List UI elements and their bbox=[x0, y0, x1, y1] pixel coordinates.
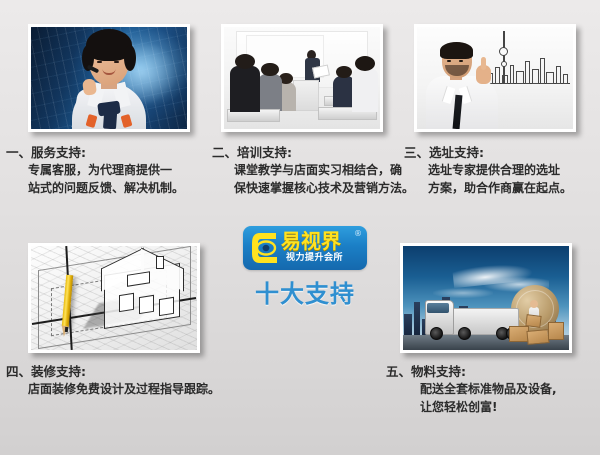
poster-canvas: 易视界 视力提升会所 ® 十大支持 一、服务支持: 专属客服，为代理商提供一 站… bbox=[0, 0, 600, 455]
house-window bbox=[159, 297, 174, 316]
agent-hand bbox=[82, 78, 97, 96]
feature-line: 让您轻松创富! bbox=[420, 398, 557, 416]
student-figure bbox=[258, 74, 281, 111]
brand-logo: 易视界 视力提升会所 ® 十大支持 bbox=[243, 226, 367, 312]
feature-title-3: 三、选址支持: bbox=[404, 144, 572, 161]
city-skyline-sketch bbox=[486, 49, 570, 84]
registered-trademark-icon: ® bbox=[354, 229, 362, 238]
feature-title-2: 二、培训支持: bbox=[212, 144, 414, 161]
agent-hair-side-right bbox=[124, 45, 136, 71]
feature-title-text-5: 物料支持: bbox=[411, 364, 466, 379]
feature-title-text-3: 选址支持: bbox=[429, 145, 484, 160]
feature-number-1: 一、 bbox=[6, 145, 31, 160]
feature-body-2: 课堂教学与店面实习相结合，确 保快速掌握核心技术及营销方法。 bbox=[212, 161, 414, 197]
feature-line: 配送全套标准物品及设备, bbox=[420, 380, 557, 398]
student-head bbox=[235, 54, 255, 69]
feature-line: 课堂教学与店面实习相结合，确 bbox=[234, 161, 414, 179]
feature-body-5: 配送全套标准物品及设备, 让您轻松创富! bbox=[386, 380, 557, 416]
feature-caption-5: 五、物料支持: 配送全套标准物品及设备, 让您轻松创富! bbox=[386, 363, 557, 416]
student-figure bbox=[230, 66, 260, 112]
logo-subtitle-text: 视力提升会所 bbox=[286, 253, 343, 264]
agent-eye-left bbox=[97, 61, 102, 63]
man-eye-left bbox=[447, 60, 451, 62]
call-center-agent-photo bbox=[28, 24, 190, 132]
house-chimney bbox=[156, 256, 164, 268]
agent-eye-right bbox=[114, 61, 119, 63]
student-head bbox=[336, 66, 352, 78]
feature-line: 店面装修免费设计及过程指导跟踪。 bbox=[28, 380, 220, 398]
logo-brand-text: 易视界 bbox=[281, 229, 341, 253]
feature-line: 选址专家提供合理的选址 bbox=[428, 161, 572, 179]
businessman-city-sketch-photo bbox=[414, 24, 576, 132]
logo-badge: 易视界 视力提升会所 ® bbox=[243, 226, 367, 270]
man-hair bbox=[440, 42, 473, 59]
feature-title-1: 一、服务支持: bbox=[6, 144, 184, 161]
tv-tower-sketch bbox=[503, 35, 505, 84]
cardboard-box bbox=[548, 322, 564, 340]
feature-caption-2: 二、培训支持: 课堂教学与店面实习相结合，确 保快速掌握核心技术及营销方法。 bbox=[212, 144, 414, 197]
truck-windshield bbox=[427, 303, 449, 312]
student-figure bbox=[352, 68, 379, 112]
logistics-truck-photo bbox=[400, 243, 572, 353]
feature-number-5: 五、 bbox=[386, 364, 411, 379]
man-eye-right bbox=[459, 60, 463, 62]
feature-number-3: 三、 bbox=[404, 145, 429, 160]
tower-sphere-lower bbox=[501, 61, 507, 67]
feature-line: 方案，助合作商赢在起点。 bbox=[428, 179, 572, 197]
feature-number-2: 二、 bbox=[212, 145, 237, 160]
house-window bbox=[139, 295, 154, 314]
tower-spire bbox=[503, 31, 505, 40]
feature-title-5: 五、物料支持: bbox=[386, 363, 557, 380]
feature-number-4: 四、 bbox=[6, 364, 31, 379]
cardboard-box bbox=[527, 329, 550, 345]
podium bbox=[293, 80, 320, 111]
feature-body-4: 店面装修免费设计及过程指导跟踪。 bbox=[6, 380, 220, 398]
e-eye-icon bbox=[250, 230, 281, 266]
feature-title-4: 四、装修支持: bbox=[6, 363, 220, 380]
truck-wheel bbox=[458, 327, 471, 340]
feature-title-text-2: 培训支持: bbox=[237, 145, 292, 160]
truck-wheel bbox=[430, 327, 443, 340]
feature-title-text-1: 服务支持: bbox=[31, 145, 86, 160]
student-head bbox=[355, 56, 375, 71]
feature-caption-3: 三、选址支持: 选址专家提供合理的选址 方案，助合作商赢在起点。 bbox=[404, 144, 572, 197]
feature-caption-4: 四、装修支持: 店面装修免费设计及过程指导跟踪。 bbox=[6, 363, 220, 398]
feature-title-text-4: 装修支持: bbox=[31, 364, 86, 379]
pointing-finger bbox=[481, 57, 486, 70]
blueprint-house-photo bbox=[28, 243, 200, 353]
house-window bbox=[119, 293, 134, 312]
feature-line: 站式的问题反馈、解决机制。 bbox=[28, 179, 184, 197]
logo-tagline: 十大支持 bbox=[243, 274, 367, 309]
feature-body-3: 选址专家提供合理的选址 方案，助合作商赢在起点。 bbox=[404, 161, 572, 197]
feature-body-1: 专属客服，为代理商提供一 站式的问题反馈、解决机制。 bbox=[6, 161, 184, 197]
student-head bbox=[261, 63, 278, 76]
feature-caption-1: 一、服务支持: 专属客服，为代理商提供一 站式的问题反馈、解决机制。 bbox=[6, 144, 184, 197]
feature-line: 保快速掌握核心技术及营销方法。 bbox=[234, 179, 414, 197]
training-classroom-photo bbox=[221, 24, 383, 132]
feature-line: 专属客服，为代理商提供一 bbox=[28, 161, 184, 179]
